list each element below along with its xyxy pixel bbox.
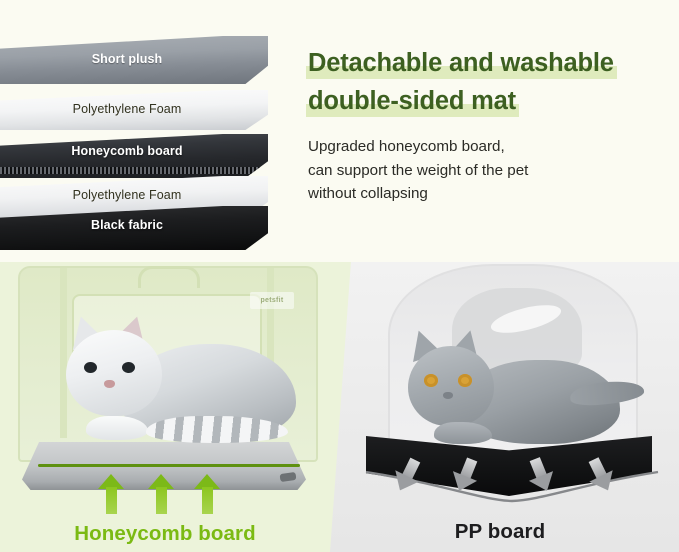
layer-label-foam-bottom: Polyethylene Foam: [0, 188, 268, 202]
arrow-up-icon: [98, 474, 124, 514]
layer-label-black-fabric: Black fabric: [0, 218, 268, 232]
body-line-1: Upgraded honeycomb board,: [308, 135, 672, 159]
cat-head: [66, 330, 162, 416]
layer-polyethylene-foam-top: Polyethylene Foam: [0, 90, 268, 130]
body-copy: Upgraded honeycomb board, can support th…: [308, 135, 672, 206]
carrier-brand-logo: petsfit: [250, 292, 294, 309]
cat-silver-tabby: [48, 310, 298, 462]
top-section: Short plush Polyethylene Foam Honeycomb …: [0, 0, 679, 262]
cat-eye-left: [84, 362, 97, 373]
layer-black-fabric: Black fabric: [0, 206, 268, 250]
body-line-2: can support the weight of the pet: [308, 159, 672, 183]
cat-head: [408, 346, 494, 426]
headline-line-2: double-sided mat: [308, 82, 516, 120]
cat-paws: [434, 422, 492, 444]
cat-nose: [104, 380, 115, 388]
product-infographic: Short plush Polyethylene Foam Honeycomb …: [0, 0, 679, 552]
copy-block: Detachable and washable double-sided mat…: [308, 44, 672, 206]
layer-honeycomb-board: Honeycomb board: [0, 134, 268, 178]
layer-label-honeycomb-board: Honeycomb board: [0, 144, 268, 158]
layer-stack-diagram: Short plush Polyethylene Foam Honeycomb …: [0, 0, 300, 262]
layer-label-foam-top: Polyethylene Foam: [0, 102, 268, 116]
carrier-handle: [138, 266, 200, 288]
cat-paws: [86, 416, 148, 440]
layer-label-short-plush: Short plush: [0, 52, 268, 66]
cat-eye-right: [458, 374, 472, 387]
comparison-section: petsfit: [0, 262, 679, 552]
cat-eye-right: [122, 362, 135, 373]
cat-nose: [443, 392, 453, 399]
cat-tail: [146, 416, 288, 443]
headline-line-1: Detachable and washable: [308, 44, 614, 82]
arrow-up-icon: [148, 474, 174, 514]
support-indicator-left: Honeycomb board: [0, 462, 352, 552]
load-indicator-right: PP board: [350, 458, 679, 552]
label-honeycomb-board: Honeycomb board: [0, 522, 330, 546]
green-support-line: [38, 464, 300, 467]
layer-short-plush: Short plush: [0, 36, 268, 84]
arrow-up-icon: [194, 474, 220, 514]
body-line-3: without collapsing: [308, 182, 672, 206]
honeycomb-edge-texture: [0, 167, 268, 174]
cat-eye-left: [424, 374, 438, 387]
label-pp-board: PP board: [350, 520, 650, 544]
